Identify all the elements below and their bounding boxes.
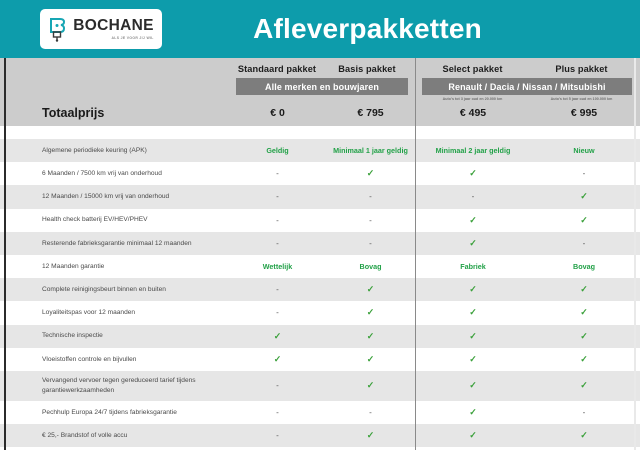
feature-cell-check: ✓ — [323, 331, 418, 342]
feature-cell-check: ✓ — [418, 430, 528, 441]
feature-cell-dash: - — [323, 216, 418, 225]
feature-cell-text: Bovag — [323, 262, 418, 271]
feature-cell-check: ✓ — [418, 168, 528, 179]
feature-cell-dash: - — [232, 239, 323, 248]
feature-cell-dash: - — [323, 192, 418, 201]
feature-cell-check: ✓ — [528, 380, 640, 391]
feature-cell-check: ✓ — [418, 354, 528, 365]
feature-cell-text: Fabriek — [418, 262, 528, 271]
table-row: Pechhulp Europa 24/7 tijdens fabrieksgar… — [0, 401, 640, 424]
package-group-renault: Select pakket Plus pakket Renault / Daci… — [418, 64, 636, 101]
feature-label: 12 Maanden garantie — [0, 262, 232, 272]
feature-cell-check: ✓ — [323, 354, 418, 365]
feature-cell-check: ✓ — [232, 331, 323, 342]
feature-cell-check: ✓ — [323, 380, 418, 391]
feature-label: Vervangend vervoer tegen gereduceerd tar… — [0, 376, 232, 395]
feature-cell-dash: - — [232, 308, 323, 317]
total-price-label: Totaalprijs — [0, 106, 232, 120]
band-spacer — [0, 126, 640, 139]
package-group-all-brands: Standaard pakket Basis pakket Alle merke… — [232, 64, 412, 97]
table-row: 12 Maanden / 15000 km vrij van onderhoud… — [0, 185, 640, 208]
package-name-standaard: Standaard pakket — [232, 64, 322, 74]
feature-cell-text: Geldig — [232, 146, 323, 155]
feature-cell-dash: - — [323, 408, 418, 417]
feature-cell-dash: - — [528, 408, 640, 417]
feature-label: Loyaliteitspas voor 12 maanden — [0, 308, 232, 318]
table-row: Complete reinigingsbeurt binnen en buite… — [0, 278, 640, 301]
feature-cell-check: ✓ — [418, 215, 528, 226]
feature-label: € 25,- Brandstof of volle accu — [0, 431, 232, 441]
table-row: Health check batterij EV/HEV/PHEV--✓✓ — [0, 209, 640, 232]
feature-cell-dash: - — [418, 192, 528, 201]
feature-cell-check: ✓ — [418, 380, 528, 391]
feature-cell-text: Nieuw — [528, 146, 640, 155]
left-edge-rule — [4, 58, 6, 450]
price-select: € 495 — [418, 107, 528, 119]
table-row: Vervangend vervoer tegen gereduceerd tar… — [0, 371, 640, 401]
feature-cell-check: ✓ — [323, 307, 418, 318]
package-name-plus: Plus pakket — [527, 64, 636, 74]
feature-cell-check: ✓ — [528, 284, 640, 295]
feature-cell-dash: - — [323, 239, 418, 248]
table-footer-spacer — [0, 447, 640, 453]
total-price-row: Totaalprijs € 0 € 795 € 495 € 995 — [0, 100, 640, 126]
feature-cell-check: ✓ — [418, 331, 528, 342]
feature-cell-check: ✓ — [528, 191, 640, 202]
feature-cell-dash: - — [528, 239, 640, 248]
feature-cell-dash: - — [528, 169, 640, 178]
feature-cell-check: ✓ — [418, 284, 528, 295]
right-edge-rule — [634, 58, 636, 450]
feature-label: Algemene periodieke keuring (APK) — [0, 146, 232, 156]
feature-cell-dash: - — [232, 285, 323, 294]
feature-cell-check: ✓ — [418, 238, 528, 249]
package-name-select: Select pakket — [418, 64, 527, 74]
feature-cell-check: ✓ — [232, 354, 323, 365]
feature-label: Pechhulp Europa 24/7 tijdens fabrieksgar… — [0, 408, 232, 418]
feature-label: Resterende fabrieksgarantie minimaal 12 … — [0, 239, 232, 249]
feature-cell-text: Bovag — [528, 262, 640, 271]
feature-cell-text: Minimaal 2 jaar geldig — [418, 146, 528, 155]
column-header-band: Standaard pakket Basis pakket Alle merke… — [0, 58, 640, 126]
feature-cell-dash: - — [232, 169, 323, 178]
group-column-divider — [415, 58, 416, 450]
feature-cell-check: ✓ — [528, 354, 640, 365]
table-row: Technische inspectie✓✓✓✓ — [0, 325, 640, 348]
feature-label: Complete reinigingsbeurt binnen en buite… — [0, 285, 232, 295]
feature-cell-check: ✓ — [418, 407, 528, 418]
price-basis: € 795 — [323, 107, 418, 119]
table-row: Vloeistoffen controle en bijvullen✓✓✓✓ — [0, 348, 640, 371]
feature-cell-dash: - — [232, 381, 323, 390]
feature-cell-check: ✓ — [323, 430, 418, 441]
feature-cell-check: ✓ — [528, 331, 640, 342]
feature-cell-check: ✓ — [528, 307, 640, 318]
afleverpakketten-page: BOCHANE ALS JE VOOR JIJ WIL Afleverpakke… — [0, 0, 640, 453]
feature-cell-dash: - — [232, 408, 323, 417]
feature-label: 12 Maanden / 15000 km vrij van onderhoud — [0, 192, 232, 202]
table-row: Resterende fabrieksgarantie minimaal 12 … — [0, 232, 640, 255]
group-pill-all-brands: Alle merken en bouwjaren — [236, 78, 408, 95]
price-standaard: € 0 — [232, 107, 323, 119]
feature-cell-check: ✓ — [323, 284, 418, 295]
table-row: 12 Maanden garantieWettelijkBovagFabriek… — [0, 255, 640, 278]
feature-comparison-table: Algemene periodieke keuring (APK)GeldigM… — [0, 139, 640, 447]
feature-cell-check: ✓ — [528, 215, 640, 226]
feature-label: Vloeistoffen controle en bijvullen — [0, 355, 232, 365]
table-row: Loyaliteitspas voor 12 maanden-✓✓✓ — [0, 301, 640, 324]
group-pill-renault: Renault / Dacia / Nissan / Mitsubishi — [422, 78, 632, 95]
table-row: € 25,- Brandstof of volle accu-✓✓✓ — [0, 424, 640, 447]
feature-label: Technische inspectie — [0, 331, 232, 341]
package-name-basis: Basis pakket — [322, 64, 412, 74]
page-header: BOCHANE ALS JE VOOR JIJ WIL Afleverpakke… — [0, 0, 640, 58]
feature-cell-check: ✓ — [528, 430, 640, 441]
table-row: 6 Maanden / 7500 km vrij van onderhoud-✓… — [0, 162, 640, 185]
table-row: Algemene periodieke keuring (APK)GeldigM… — [0, 139, 640, 162]
feature-cell-text: Wettelijk — [232, 262, 323, 271]
feature-label: Health check batterij EV/HEV/PHEV — [0, 215, 232, 225]
feature-cell-dash: - — [232, 216, 323, 225]
price-plus: € 995 — [528, 107, 640, 119]
feature-cell-dash: - — [232, 431, 323, 440]
feature-cell-dash: - — [232, 192, 323, 201]
feature-label: 6 Maanden / 7500 km vrij van onderhoud — [0, 169, 232, 179]
feature-cell-check: ✓ — [418, 307, 528, 318]
feature-cell-check: ✓ — [323, 168, 418, 179]
page-title: Afleverpakketten — [0, 13, 640, 45]
feature-cell-text: Minimaal 1 jaar geldig — [323, 146, 418, 155]
